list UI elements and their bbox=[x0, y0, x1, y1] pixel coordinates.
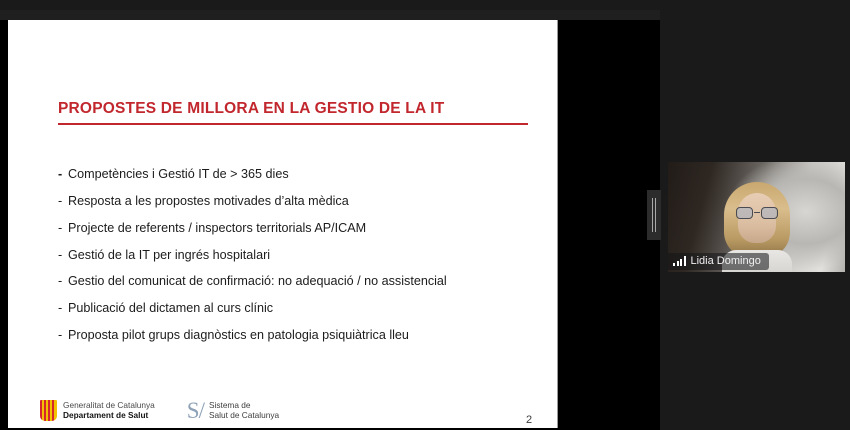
s-slash-icon: S/ bbox=[187, 399, 204, 422]
list-item: - Resposta a les propostes motivades d’a… bbox=[58, 195, 528, 209]
list-item: - Proposta pilot grups diagnòstics en pa… bbox=[58, 329, 528, 343]
bullet-text: Proposta pilot grups diagnòstics en pato… bbox=[68, 329, 409, 343]
slide-canvas: PROPOSTES DE MILLORA EN LA GESTIO DE LA … bbox=[8, 20, 558, 428]
bullet-dash: - bbox=[58, 302, 68, 316]
bullet-text: Projecte de referents / inspectors terri… bbox=[68, 222, 366, 236]
bullet-text: Resposta a les propostes motivades d’alt… bbox=[68, 195, 349, 209]
screen-share-view: PROPOSTES DE MILLORA EN LA GESTIO DE LA … bbox=[0, 0, 850, 430]
bullet-dash: - bbox=[58, 275, 68, 289]
generalitat-logo-text: Generalitat de Catalunya Departament de … bbox=[63, 401, 155, 421]
title-underline-rule bbox=[58, 123, 528, 125]
bullet-dash: - bbox=[58, 249, 68, 263]
vertical-resize-handle-icon[interactable] bbox=[647, 190, 661, 240]
stage-top-strip bbox=[0, 10, 660, 20]
generalitat-line2: Departament de Salut bbox=[63, 411, 155, 421]
slide-title: PROPOSTES DE MILLORA EN LA GESTIO DE LA … bbox=[58, 100, 444, 118]
bullet-text: Competències i Gestió IT de > 365 dies bbox=[68, 168, 289, 182]
sistema-salut-logo: S/ Sistema de Salut de Catalunya bbox=[187, 399, 279, 422]
bullet-dash: - bbox=[58, 222, 68, 236]
slide-footer-logos: Generalitat de Catalunya Departament de … bbox=[40, 399, 279, 422]
bullet-text: Publicació del dictamen al curs clínic bbox=[68, 302, 273, 316]
sistema-salut-logo-text: Sistema de Salut de Catalunya bbox=[209, 401, 279, 421]
bullet-text: Gestio del comunicat de confirmació: no … bbox=[68, 275, 447, 289]
catalonia-shield-icon bbox=[40, 400, 57, 421]
list-item: - Publicació del dictamen al curs clínic bbox=[58, 302, 528, 316]
signal-bars-icon bbox=[673, 256, 686, 266]
sistema-salut-line2: Salut de Catalunya bbox=[209, 411, 279, 421]
page-number: 2 bbox=[526, 414, 532, 426]
participant-video-tile[interactable]: Lidia Domingo bbox=[668, 162, 845, 272]
participant-name-label: Lidia Domingo bbox=[691, 255, 761, 267]
slide-bullet-list: - Competències i Gestió IT de > 365 dies… bbox=[58, 168, 528, 356]
bullet-text: Gestió de la IT per ingrés hospitalari bbox=[68, 249, 270, 263]
participant-name-badge: Lidia Domingo bbox=[668, 253, 769, 270]
list-item: - Projecte de referents / inspectors ter… bbox=[58, 222, 528, 236]
list-item: - Gestio del comunicat de confirmació: n… bbox=[58, 275, 528, 289]
list-item: - Competències i Gestió IT de > 365 dies bbox=[58, 168, 528, 182]
generalitat-logo: Generalitat de Catalunya Departament de … bbox=[40, 400, 155, 421]
presentation-stage: PROPOSTES DE MILLORA EN LA GESTIO DE LA … bbox=[0, 10, 660, 430]
bullet-dash: - bbox=[58, 329, 68, 343]
list-item: - Gestió de la IT per ingrés hospitalari bbox=[58, 249, 528, 263]
bullet-dash: - bbox=[58, 195, 68, 209]
bullet-dash: - bbox=[58, 168, 68, 182]
glasses-icon bbox=[735, 207, 779, 219]
